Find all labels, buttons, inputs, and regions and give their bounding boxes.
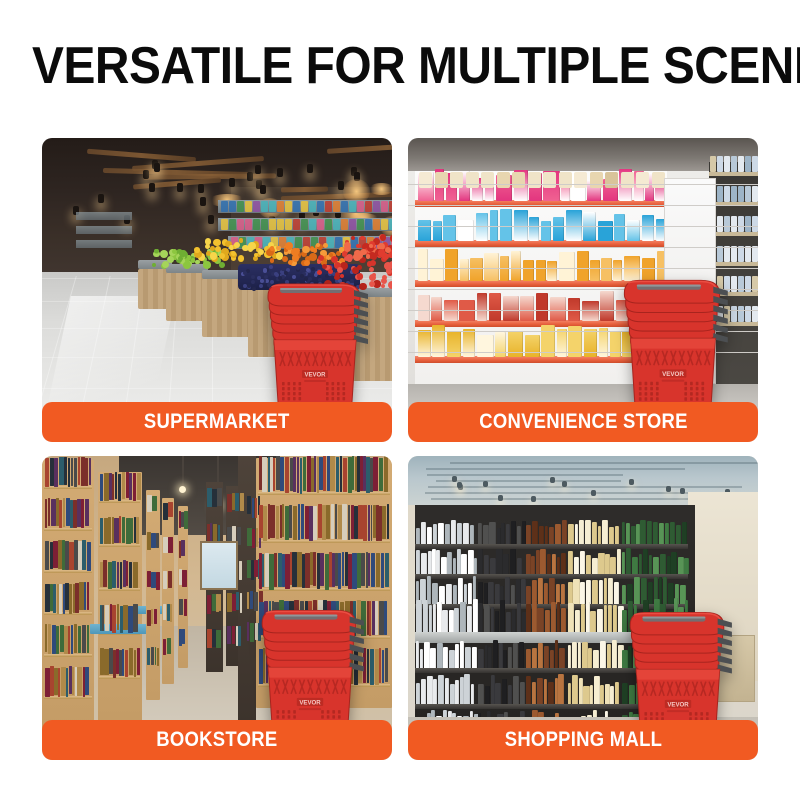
book bbox=[326, 505, 330, 539]
book bbox=[104, 518, 108, 544]
bottle bbox=[421, 553, 427, 574]
product-box bbox=[430, 259, 444, 281]
bottle bbox=[653, 522, 658, 544]
book bbox=[154, 609, 157, 625]
bottle bbox=[464, 584, 467, 604]
shelf-product bbox=[389, 219, 392, 230]
product-feature-page: VERSATILE FOR MULTIPLE SCENES bbox=[0, 0, 800, 800]
stacked-basket-rim bbox=[262, 610, 356, 632]
book bbox=[114, 518, 118, 543]
produce-item bbox=[270, 258, 275, 263]
right-product bbox=[738, 306, 744, 322]
book bbox=[69, 542, 74, 570]
book bbox=[212, 594, 216, 612]
bottle bbox=[580, 582, 585, 604]
book bbox=[109, 648, 113, 674]
book bbox=[269, 554, 274, 590]
product-box bbox=[418, 295, 430, 321]
book bbox=[293, 506, 298, 540]
rack-wire bbox=[408, 247, 758, 248]
bottle bbox=[455, 644, 459, 668]
shelf-product bbox=[333, 201, 340, 212]
book bbox=[372, 601, 375, 635]
produce-item bbox=[342, 251, 347, 256]
bottle bbox=[429, 605, 432, 632]
bottle bbox=[678, 557, 684, 574]
book bbox=[52, 625, 56, 655]
bottle bbox=[568, 603, 574, 632]
book bbox=[147, 571, 151, 587]
bottle bbox=[438, 523, 444, 544]
book bbox=[345, 552, 348, 586]
scene-card-bookstore[interactable]: VEVOR BOOKSTORE bbox=[42, 456, 392, 760]
book bbox=[274, 553, 277, 587]
bottle bbox=[544, 646, 550, 668]
product-box bbox=[508, 331, 523, 357]
bottle bbox=[604, 578, 607, 604]
bottle bbox=[439, 586, 445, 604]
bottle bbox=[653, 557, 659, 574]
shelf-product bbox=[301, 219, 308, 230]
bottle bbox=[626, 523, 630, 544]
product-box bbox=[627, 220, 641, 241]
bottle bbox=[478, 582, 483, 604]
bottle bbox=[441, 557, 447, 574]
book bbox=[265, 553, 269, 587]
book bbox=[126, 561, 128, 586]
book bbox=[358, 505, 362, 539]
book bbox=[313, 552, 316, 585]
bottle bbox=[442, 610, 448, 632]
bottle bbox=[488, 647, 492, 668]
produce-item bbox=[239, 238, 243, 242]
produce-item bbox=[337, 267, 343, 273]
book bbox=[104, 649, 108, 675]
shelf-product bbox=[237, 201, 244, 212]
track-light bbox=[208, 215, 214, 224]
top-shelf-bag bbox=[419, 172, 432, 188]
produce-item bbox=[378, 249, 386, 257]
right-product bbox=[710, 156, 716, 172]
product-box bbox=[614, 214, 625, 241]
bottle bbox=[484, 605, 490, 632]
bottle bbox=[416, 550, 420, 574]
book bbox=[184, 511, 188, 529]
product-box bbox=[460, 259, 469, 281]
track-light bbox=[154, 163, 160, 172]
blueberry bbox=[281, 267, 285, 271]
product-box bbox=[418, 220, 431, 241]
book bbox=[278, 553, 282, 587]
ceiling-rail bbox=[428, 486, 742, 488]
book bbox=[384, 456, 388, 492]
shelf-product bbox=[357, 201, 364, 212]
book bbox=[126, 518, 131, 544]
book bbox=[370, 649, 374, 685]
bottle bbox=[544, 583, 548, 604]
bottle bbox=[526, 649, 531, 668]
book bbox=[368, 505, 370, 540]
produce-item bbox=[154, 249, 158, 253]
scene-label: SUPERMARKET bbox=[144, 410, 290, 434]
bottle bbox=[513, 676, 519, 704]
bottle bbox=[463, 523, 469, 544]
top-shelf-bag bbox=[621, 172, 634, 188]
bottle bbox=[568, 582, 573, 604]
bottle bbox=[536, 550, 539, 574]
book bbox=[129, 562, 132, 588]
book bbox=[74, 458, 77, 488]
book bbox=[227, 626, 231, 644]
right-shelf bbox=[709, 262, 758, 266]
book bbox=[303, 457, 306, 491]
track-light bbox=[198, 184, 204, 193]
book bbox=[363, 505, 367, 541]
bottle bbox=[532, 601, 537, 632]
scene-card-supermarket[interactable]: VEVOR SUPERMARKET bbox=[42, 138, 392, 442]
shelf-product bbox=[221, 219, 228, 230]
bottle bbox=[561, 608, 565, 632]
book bbox=[338, 505, 342, 538]
bottle bbox=[552, 554, 556, 574]
book bbox=[227, 593, 232, 612]
bottle bbox=[622, 552, 625, 574]
product-box bbox=[489, 293, 502, 321]
bottle bbox=[568, 551, 573, 574]
book bbox=[71, 625, 73, 655]
book bbox=[151, 572, 156, 588]
bottle bbox=[557, 602, 561, 632]
bottle bbox=[557, 557, 560, 574]
book bbox=[82, 625, 86, 652]
bottle bbox=[517, 603, 521, 632]
light-glow bbox=[369, 183, 392, 195]
shelf-product bbox=[357, 219, 364, 230]
product-box bbox=[476, 213, 489, 241]
book bbox=[137, 473, 141, 500]
bottle bbox=[420, 649, 424, 668]
far-shelf bbox=[76, 212, 132, 220]
produce-item bbox=[386, 268, 392, 274]
rack-wire bbox=[408, 184, 758, 185]
book bbox=[129, 648, 134, 675]
scene-label: SHOPPING MALL bbox=[504, 728, 661, 752]
book bbox=[361, 553, 365, 586]
top-shelf-bag bbox=[636, 172, 649, 188]
bottle bbox=[467, 606, 472, 632]
book bbox=[122, 472, 125, 499]
bottle bbox=[437, 602, 442, 632]
book bbox=[163, 639, 166, 654]
stacked-basket-rim bbox=[268, 284, 360, 306]
book bbox=[285, 506, 289, 541]
book bbox=[232, 594, 235, 611]
product-box bbox=[525, 335, 540, 357]
shelf-product bbox=[365, 219, 372, 230]
bottle bbox=[511, 585, 516, 604]
produce-item bbox=[194, 247, 200, 253]
produce-item bbox=[213, 239, 220, 246]
book bbox=[276, 506, 280, 540]
produce-item bbox=[179, 250, 186, 257]
book bbox=[307, 456, 311, 491]
bottle bbox=[447, 552, 451, 574]
bottle bbox=[432, 583, 438, 604]
shelf-product bbox=[341, 201, 348, 212]
book bbox=[45, 541, 49, 570]
shelf-product bbox=[309, 201, 316, 212]
scene-banner-convenience-store: CONVENIENCE STORE bbox=[408, 402, 758, 442]
ceiling-rail bbox=[450, 462, 758, 464]
bottle bbox=[634, 577, 640, 604]
bottle bbox=[590, 685, 593, 704]
basket-handle bbox=[713, 324, 727, 333]
bottle bbox=[503, 554, 509, 574]
track-light bbox=[177, 183, 183, 192]
bottle bbox=[450, 684, 455, 704]
book bbox=[210, 523, 212, 541]
shelf-product bbox=[229, 201, 236, 212]
rack-wire bbox=[408, 268, 758, 269]
book bbox=[85, 667, 88, 695]
shelf-product bbox=[341, 219, 348, 230]
book bbox=[352, 553, 356, 589]
bottle bbox=[416, 683, 420, 704]
bottle bbox=[478, 649, 484, 668]
book bbox=[134, 650, 136, 677]
product-box bbox=[590, 260, 600, 281]
bottle bbox=[568, 645, 571, 668]
bottle bbox=[548, 682, 554, 704]
scene-card-convenience-store[interactable]: VEVOR CONVENIENCE STORE bbox=[408, 138, 758, 442]
bottle bbox=[510, 549, 516, 574]
bottle bbox=[445, 678, 449, 704]
shelf-product bbox=[325, 219, 332, 230]
bottle bbox=[604, 605, 607, 632]
bottle bbox=[551, 602, 556, 632]
book bbox=[54, 458, 58, 487]
bottle bbox=[667, 556, 671, 574]
bottle bbox=[579, 678, 583, 704]
book bbox=[77, 667, 82, 696]
product-box bbox=[503, 296, 519, 321]
bottle bbox=[470, 525, 474, 544]
bottle bbox=[517, 558, 522, 574]
produce-item bbox=[309, 253, 317, 261]
bottle bbox=[588, 648, 592, 668]
bottle bbox=[495, 584, 500, 604]
bottle bbox=[430, 648, 436, 668]
book bbox=[340, 456, 342, 491]
bottle bbox=[427, 676, 433, 704]
produce-item bbox=[248, 242, 256, 250]
book bbox=[102, 605, 104, 631]
svg-text:VEVOR: VEVOR bbox=[299, 700, 321, 707]
bottle bbox=[445, 524, 451, 544]
book bbox=[147, 532, 151, 549]
book bbox=[147, 495, 152, 511]
bottle bbox=[568, 683, 571, 704]
upper-ceiling bbox=[408, 138, 758, 171]
book bbox=[207, 629, 212, 648]
shelf-product bbox=[221, 201, 228, 212]
bottle bbox=[451, 520, 456, 544]
right-product bbox=[745, 306, 751, 322]
bottle bbox=[549, 527, 554, 544]
book bbox=[181, 540, 185, 556]
right-product bbox=[738, 156, 744, 172]
book bbox=[256, 528, 258, 547]
produce-item bbox=[231, 251, 236, 256]
book bbox=[119, 516, 121, 543]
book bbox=[217, 488, 222, 506]
rack-wire bbox=[408, 226, 758, 227]
book bbox=[50, 666, 54, 696]
bottle bbox=[631, 526, 636, 544]
bottle bbox=[520, 682, 525, 704]
book bbox=[297, 457, 300, 493]
product-box bbox=[536, 260, 546, 281]
bottle bbox=[526, 676, 531, 704]
bottle bbox=[433, 604, 436, 632]
book bbox=[147, 648, 150, 665]
shelf-product bbox=[285, 219, 292, 230]
bottle bbox=[505, 577, 510, 604]
book bbox=[252, 529, 255, 548]
book bbox=[117, 562, 119, 588]
bottle bbox=[617, 549, 622, 574]
product-box bbox=[536, 293, 548, 321]
book bbox=[247, 528, 252, 546]
shelf-product bbox=[261, 201, 268, 212]
book bbox=[238, 626, 241, 646]
bottle bbox=[501, 523, 504, 544]
scene-banner-bookstore: BOOKSTORE bbox=[42, 720, 392, 760]
product-box bbox=[484, 253, 499, 281]
bottle bbox=[614, 582, 619, 604]
bottle bbox=[544, 679, 548, 704]
bottle bbox=[503, 650, 507, 668]
book bbox=[54, 668, 58, 695]
product-box bbox=[550, 297, 566, 321]
book bbox=[342, 552, 345, 585]
book bbox=[219, 594, 221, 611]
book bbox=[120, 562, 123, 589]
shelf-edge bbox=[44, 528, 92, 531]
shelf-product bbox=[229, 219, 236, 230]
bottle bbox=[610, 557, 615, 574]
bottle bbox=[468, 550, 473, 574]
bottle bbox=[558, 674, 564, 704]
book bbox=[207, 488, 212, 507]
book bbox=[255, 498, 258, 518]
book bbox=[112, 474, 114, 500]
book bbox=[327, 456, 330, 490]
book bbox=[87, 625, 90, 653]
bottle bbox=[598, 553, 604, 574]
book bbox=[319, 457, 322, 490]
book bbox=[212, 629, 215, 647]
top-shelf-bag bbox=[605, 172, 618, 188]
book bbox=[59, 500, 62, 528]
blueberry bbox=[251, 275, 255, 279]
bottle bbox=[416, 528, 420, 544]
bottle bbox=[537, 608, 543, 632]
book bbox=[77, 499, 80, 527]
produce-item bbox=[167, 256, 174, 263]
produce-item bbox=[386, 263, 391, 268]
svg-text:VEVOR: VEVOR bbox=[304, 373, 326, 379]
book bbox=[212, 489, 217, 507]
shelf-product bbox=[349, 201, 356, 212]
bottle bbox=[610, 686, 614, 704]
bottle bbox=[556, 584, 560, 604]
book bbox=[309, 506, 313, 542]
shelf-product bbox=[253, 201, 260, 212]
book bbox=[89, 458, 91, 485]
shelf-product bbox=[295, 237, 302, 248]
bottle bbox=[684, 558, 688, 574]
shelf-product bbox=[245, 201, 252, 212]
book bbox=[168, 537, 173, 553]
book bbox=[69, 584, 72, 614]
product-box bbox=[418, 249, 428, 281]
pendant-cord bbox=[182, 456, 184, 486]
book bbox=[147, 610, 151, 626]
book bbox=[112, 561, 116, 588]
book bbox=[78, 626, 81, 653]
right-product bbox=[752, 186, 758, 202]
right-product bbox=[717, 186, 723, 202]
produce-item bbox=[356, 244, 360, 248]
produce-item bbox=[351, 236, 355, 240]
shelf-edge bbox=[44, 612, 92, 615]
book bbox=[335, 504, 337, 538]
book bbox=[167, 638, 171, 655]
bottle bbox=[472, 647, 477, 668]
shelf-edge bbox=[44, 570, 92, 573]
scene-card-shopping-mall[interactable]: VEVOR SHOPPING MALL bbox=[408, 456, 758, 760]
book bbox=[85, 499, 89, 526]
book bbox=[78, 457, 80, 485]
book bbox=[163, 537, 168, 553]
book bbox=[338, 553, 341, 589]
right-product bbox=[724, 216, 730, 232]
track-light bbox=[229, 178, 235, 187]
bottle bbox=[608, 605, 612, 632]
bottle bbox=[600, 685, 604, 704]
produce-item bbox=[292, 254, 300, 262]
bottle bbox=[433, 524, 437, 544]
book bbox=[259, 505, 263, 538]
book bbox=[60, 625, 64, 652]
book bbox=[45, 584, 50, 612]
right-shelf bbox=[709, 232, 758, 236]
book bbox=[385, 648, 388, 682]
bottle bbox=[600, 641, 606, 668]
vevor-logo: VEVOR bbox=[302, 370, 328, 382]
book bbox=[45, 668, 50, 697]
bottle bbox=[660, 554, 666, 574]
bottle bbox=[578, 642, 581, 668]
book bbox=[282, 504, 284, 537]
book bbox=[297, 552, 301, 587]
ceiling-beam bbox=[281, 187, 328, 193]
book bbox=[108, 562, 112, 589]
bottle bbox=[512, 609, 516, 632]
book bbox=[59, 584, 62, 614]
book bbox=[133, 473, 137, 500]
